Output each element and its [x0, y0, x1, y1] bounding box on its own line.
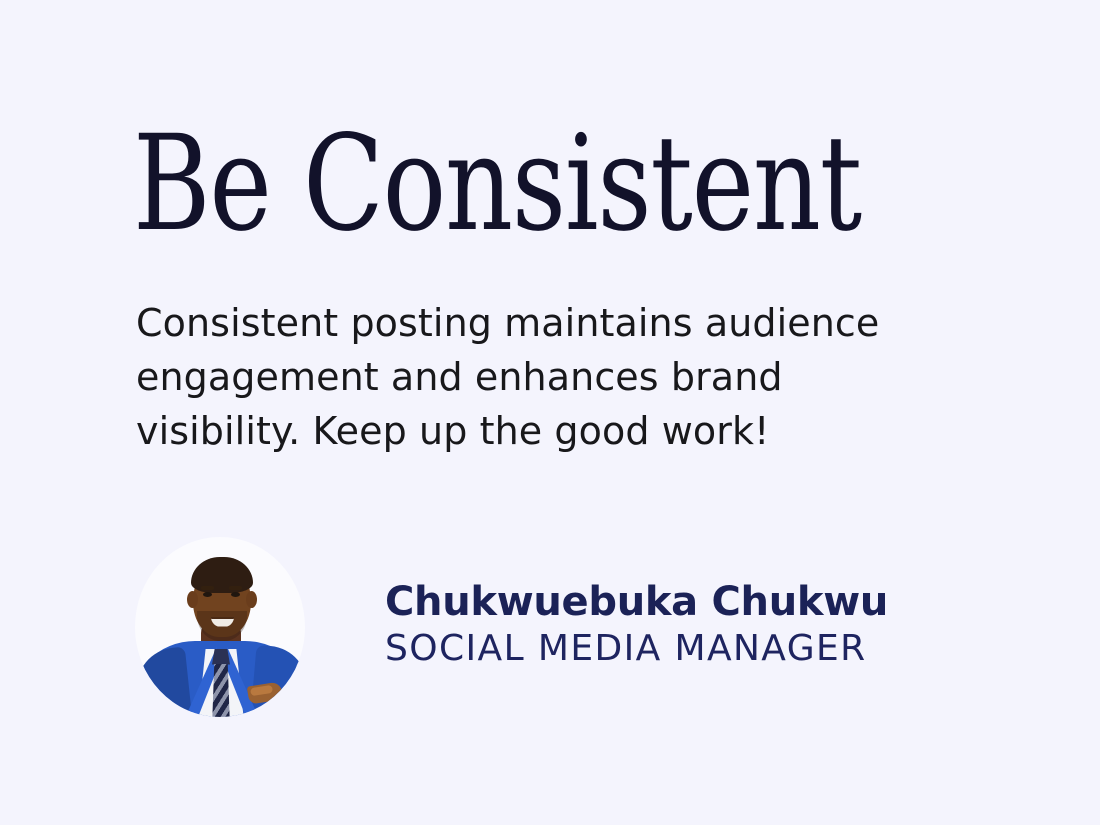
avatar-ear-right — [246, 591, 257, 608]
person-role: SOCIAL MEDIA MANAGER — [385, 626, 888, 672]
body-paragraph: Consistent posting maintains audience en… — [136, 296, 896, 458]
person-name: Chukwuebuka Chukwu — [385, 578, 888, 626]
page-title: Be Consistent — [133, 118, 821, 250]
name-block: Chukwuebuka Chukwu SOCIAL MEDIA MANAGER — [385, 578, 888, 676]
avatar-suit-right-shoulder — [250, 644, 305, 716]
signature-block: Chukwuebuka Chukwu SOCIAL MEDIA MANAGER — [135, 534, 955, 719]
avatar-eye-left — [203, 592, 212, 597]
avatar-suit-left-shoulder — [135, 646, 193, 716]
avatar-eye-right — [231, 592, 240, 597]
avatar-eyebrow-left — [201, 586, 214, 590]
social-media-quote-card: Be Consistent Consistent posting maintai… — [0, 0, 1100, 825]
avatar-tie-knot — [212, 649, 230, 665]
avatar — [135, 537, 305, 717]
avatar-ear-left — [187, 591, 198, 608]
avatar-eyebrow-right — [229, 586, 242, 590]
avatar-photo — [135, 537, 305, 717]
